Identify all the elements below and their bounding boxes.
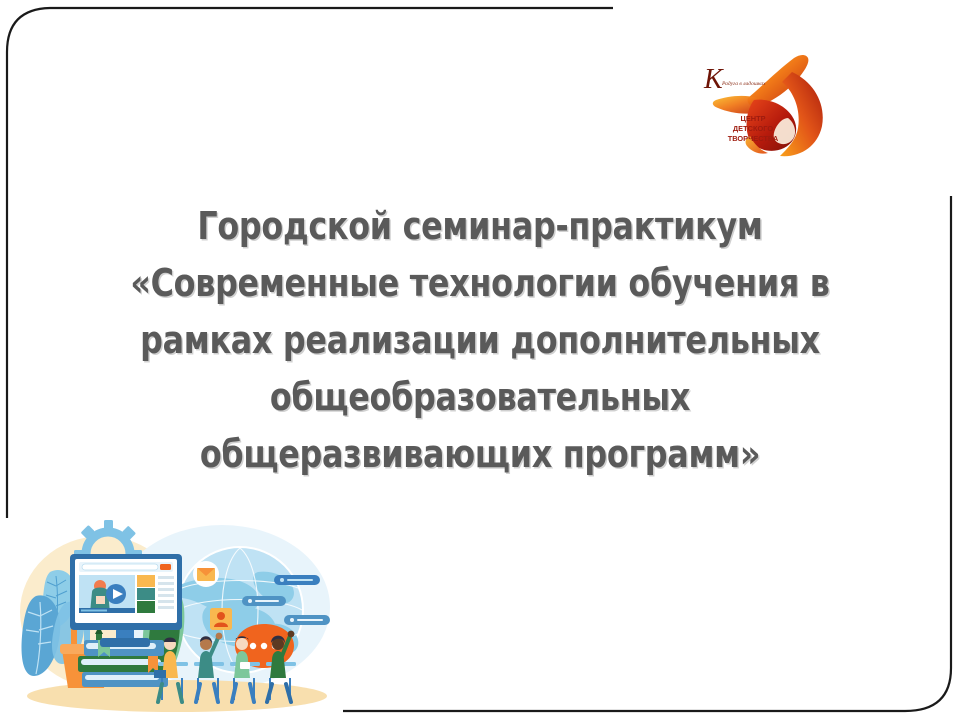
title-line-5: общеразвивающих программ»	[89, 426, 870, 483]
search-go-button	[160, 564, 171, 570]
svg-text:ДЕТСКОГО: ДЕТСКОГО	[733, 124, 773, 133]
logo-monogram: К	[703, 64, 724, 95]
title-line-3: рамках реализации дополнительных	[89, 312, 870, 369]
title-line-2: «Современные технологии обучения в	[89, 255, 870, 312]
organization-logo: К Радуга в ладошках ЦЕНТР ДЕТСКОГО ТВОРЧ…	[696, 48, 832, 160]
logo-script-text: Радуга в ладошках	[721, 80, 766, 87]
book-stack	[78, 640, 170, 687]
user-badge-icon	[210, 608, 232, 630]
browser-search-bar	[82, 564, 158, 570]
mail-icon	[193, 561, 219, 587]
slide-title: Городской семинар-практикум «Современные…	[60, 198, 900, 483]
online-education-illustration	[12, 512, 338, 716]
svg-text:ЦЕНТР: ЦЕНТР	[740, 114, 765, 123]
title-line-4: общеобразовательных	[89, 369, 870, 426]
svg-text:ТВОРЧЕСТВА: ТВОРЧЕСТВА	[728, 134, 779, 143]
title-line-1: Городской семинар-практикум	[89, 198, 870, 255]
svg-text:К: К	[703, 64, 724, 95]
